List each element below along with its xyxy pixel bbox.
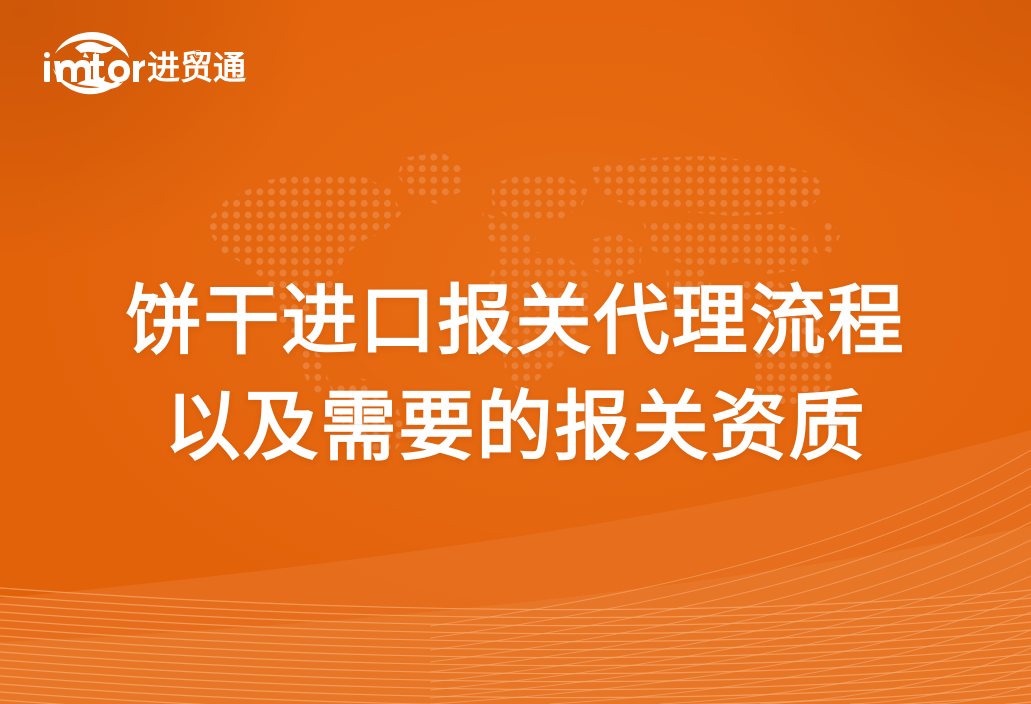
brand-logo[interactable]: 进贸通 ® — [41, 28, 246, 100]
page-title: 饼干进口报关代理流程 以及需要的报关资质 — [0, 268, 1031, 480]
globe-swoosh-icon — [41, 28, 145, 100]
poster-canvas: 进贸通 ® 饼干进口报关代理流程 以及需要的报关资质 — [0, 0, 1031, 704]
title-line-1: 饼干进口报关代理流程 — [0, 268, 1031, 374]
title-line-2: 以及需要的报关资质 — [0, 374, 1031, 480]
registered-mark: ® — [194, 50, 202, 61]
